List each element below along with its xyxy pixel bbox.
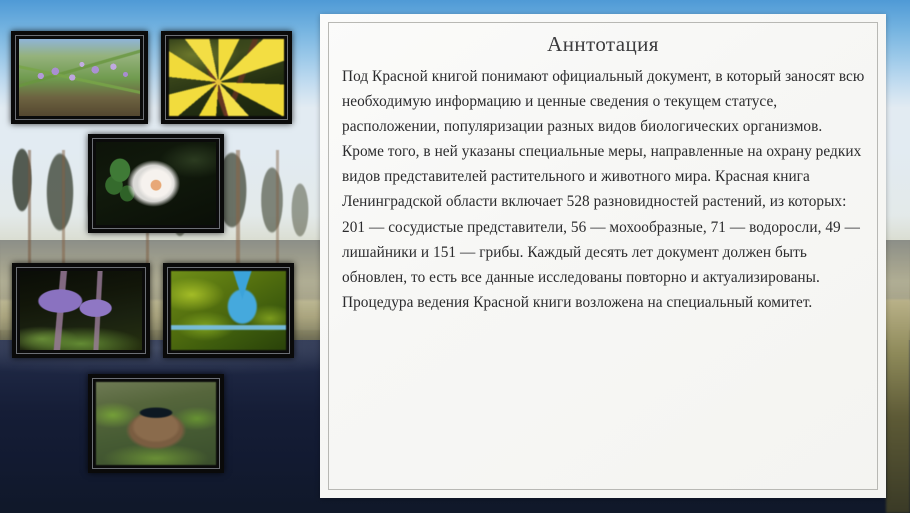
photo-frame-blue-mushroom[interactable]	[163, 263, 294, 358]
photo-violets	[16, 36, 143, 119]
presentation-slide: Аннтотация Под Красной книгой понимают о…	[0, 0, 910, 513]
background-right-vegetation	[886, 300, 910, 513]
photo-blue-mushroom	[168, 268, 289, 353]
photo-white-rose	[93, 139, 219, 228]
panel-title: Аннтотация	[320, 32, 886, 57]
photo-frame-yellow-flower[interactable]	[161, 31, 292, 124]
photo-frame-purple-mushrooms[interactable]	[12, 263, 150, 358]
panel-body-text: Под Красной книгой понимают официальный …	[342, 64, 866, 315]
annotation-panel[interactable]: Аннтотация Под Красной книгой понимают о…	[320, 14, 886, 498]
photo-yellow-flower	[166, 36, 287, 119]
photo-cup-fungus	[93, 379, 219, 468]
photo-frame-violets[interactable]	[11, 31, 148, 124]
photo-frame-white-rose[interactable]	[88, 134, 224, 233]
photo-frame-cup-fungus[interactable]	[88, 374, 224, 473]
photo-purple-mushrooms	[17, 268, 145, 353]
